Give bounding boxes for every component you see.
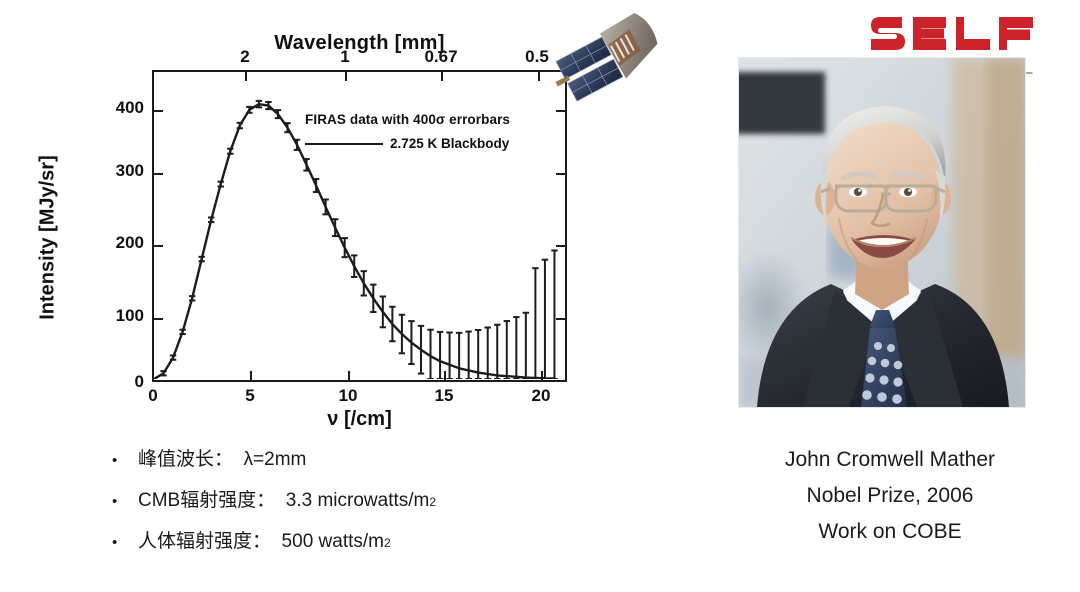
y-tick-label-100: 100	[98, 306, 144, 326]
x-tick-label-10: 10	[339, 386, 358, 406]
portrait-photo	[739, 58, 1025, 407]
bullet-text: 峰值波长： λ=2mm	[138, 444, 306, 471]
legend-line-swatch	[305, 143, 383, 145]
bullet-superscript: 2	[384, 536, 391, 550]
list-item: • 峰值波长： λ=2mm	[112, 444, 672, 471]
caption-prize: Nobel Prize, 2006	[700, 484, 1080, 508]
bullet-text: CMB辐射强度： 3.3 microwatts/m	[138, 485, 429, 512]
y-tick-label-200: 200	[98, 233, 144, 253]
x-tick-label-0: 0	[148, 386, 157, 406]
y-tick-label-300: 300	[98, 161, 144, 181]
chart-top-axis-title: Wavelength [mm]	[152, 32, 567, 55]
x-tick-label-20: 20	[532, 386, 551, 406]
y-tick-label-0: 0	[98, 372, 144, 392]
caption-work: Work on COBE	[700, 520, 1080, 544]
legend-entry-firas: FIRAS data with 400σ errorbars	[305, 112, 555, 127]
y-tick-label-400: 400	[98, 98, 144, 118]
top-tick-label-067: 0.67	[424, 47, 457, 67]
top-tick-label-1: 1	[340, 47, 349, 67]
bullet-marker-icon: •	[112, 453, 138, 468]
chart-panel: Wavelength [mm] 2 1 0.67 0.5 0 100 200 3…	[0, 0, 700, 440]
chart-legend: FIRAS data with 400σ errorbars 2.725 K B…	[305, 112, 555, 151]
top-tick-label-2: 2	[240, 47, 249, 67]
legend-label-blackbody: 2.725 K Blackbody	[390, 136, 509, 151]
x-tick-label-15: 15	[435, 386, 454, 406]
bullet-text: 人体辐射强度： 500 watts/m	[138, 526, 384, 553]
bullet-list: • 峰值波长： λ=2mm • CMB辐射强度： 3.3 microwatts/…	[112, 444, 672, 567]
self-logo	[868, 10, 1048, 58]
chart-y-axis-title: Intensity [MJy/sr]	[37, 128, 60, 348]
legend-entry-blackbody: 2.725 K Blackbody	[305, 136, 555, 151]
caption-name: John Cromwell Mather	[700, 448, 1080, 472]
list-item: • CMB辐射强度： 3.3 microwatts/m2	[112, 485, 672, 512]
portrait-caption: John Cromwell Mather Nobel Prize, 2006 W…	[700, 448, 1080, 556]
bullet-marker-icon: •	[112, 535, 138, 550]
x-tick-label-5: 5	[245, 386, 254, 406]
top-tick-label-05: 0.5	[525, 47, 549, 67]
bullet-superscript: 2	[429, 495, 436, 509]
chart-x-axis-title: ν [/cm]	[152, 408, 567, 431]
cobe-satellite-icon	[548, 4, 678, 109]
list-item: • 人体辐射强度： 500 watts/m2	[112, 526, 672, 553]
right-panel: — 格 致 论 道 —	[700, 0, 1080, 592]
bullet-marker-icon: •	[112, 494, 138, 509]
